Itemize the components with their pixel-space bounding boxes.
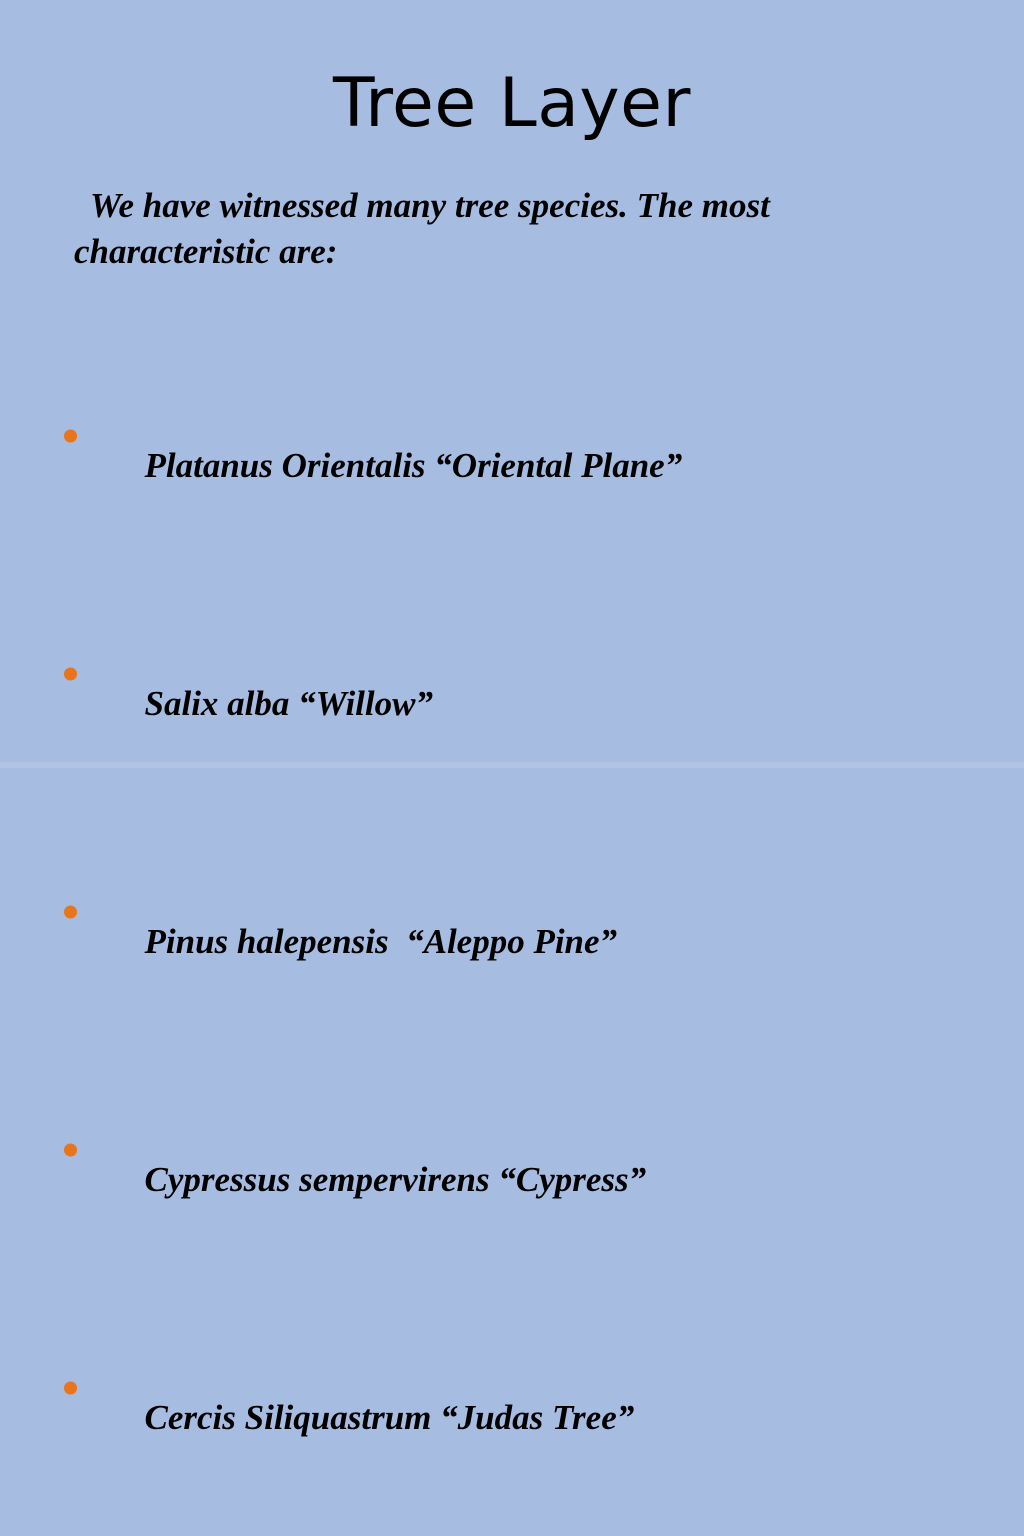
list-item-label: Pinus halepensis “Aleppo Pine”	[145, 922, 618, 961]
list-item-label: Cypressus sempervirens “Cypress”	[145, 1160, 647, 1199]
bullet-dot-icon	[64, 1144, 77, 1157]
list-item: Salix alba “Willow”	[56, 555, 996, 793]
list-item-label: Platanus Orientalis “Oriental Plane”	[145, 446, 683, 485]
list-item: Pinus halepensis “Aleppo Pine”	[56, 793, 996, 1031]
list-item-label: Salix alba “Willow”	[145, 684, 433, 723]
bullet-dot-icon	[64, 906, 77, 919]
species-list: Platanus Orientalis “Oriental Plane” Sal…	[56, 317, 996, 1536]
page-title: Tree Layer	[0, 68, 1024, 139]
list-item-label: Cercis Siliquastrum “Judas Tree”	[145, 1398, 635, 1437]
list-item: Platanus Orientalis “Oriental Plane”	[56, 317, 996, 555]
list-item: Cypressus sempervirens “Cypress”	[56, 1031, 996, 1269]
presentation-slide: Tree Layer We have witnessed many tree s…	[0, 0, 1024, 768]
bullet-dot-icon	[64, 430, 77, 443]
intro-paragraph: We have witnessed many tree species. The…	[74, 183, 954, 274]
slide-bottom-edge	[0, 762, 1024, 768]
list-item: Cercis Siliquastrum “Judas Tree”	[56, 1269, 996, 1507]
list-item: Olea oleaster “wild olive tree”	[56, 1507, 996, 1536]
bullet-dot-icon	[64, 668, 77, 681]
bullet-dot-icon	[64, 1382, 77, 1395]
